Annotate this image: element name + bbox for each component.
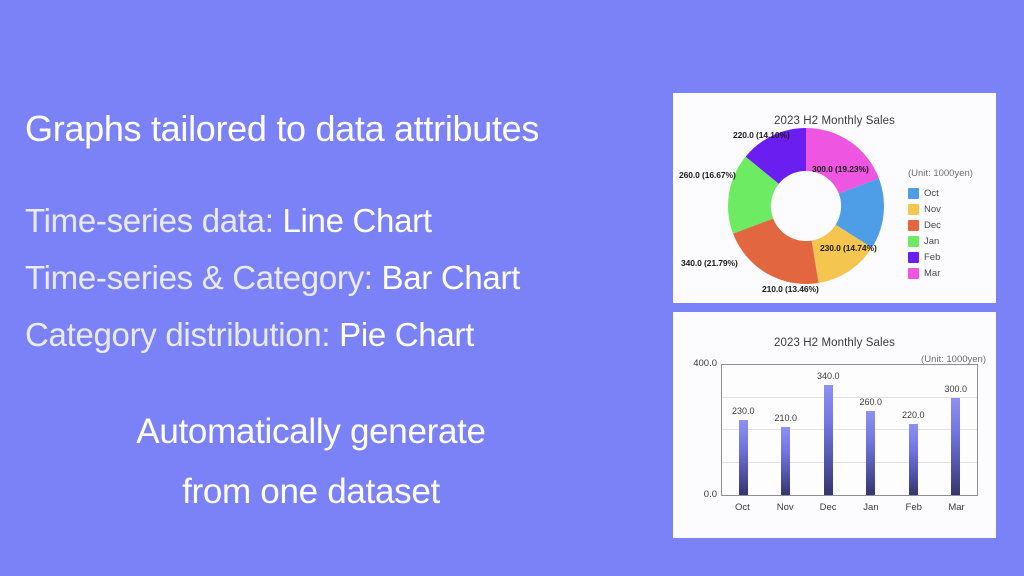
pie-slice-label-feb: 220.0 (14.10%) <box>733 130 790 140</box>
slide-text-column: Graphs tailored to data attributes Time-… <box>0 0 670 576</box>
legend-label: Dec <box>924 220 941 231</box>
rule-label: Time-series data: <box>25 202 274 239</box>
bar-rect <box>781 427 790 495</box>
bar-column-nov: 210.0 <box>765 365 808 495</box>
legend-item-feb: Feb <box>908 250 941 264</box>
legend-item-jan: Jan <box>908 234 941 248</box>
bar-value-label: 300.0 <box>944 384 967 394</box>
rule-label: Category distribution: <box>25 316 330 353</box>
bar-plot-area: 230.0210.0340.0260.0220.0300.0 <box>721 364 978 496</box>
legend-label: Oct <box>924 188 939 199</box>
pie-chart-card: 2023 H2 Monthly Sales <box>673 93 996 303</box>
pie-slice-label-oct: 230.0 (14.74%) <box>820 243 877 253</box>
pie-unit-note: (Unit: 1000yen) <box>908 168 973 179</box>
bar-columns: 230.0210.0340.0260.0220.0300.0 <box>722 365 977 495</box>
bar-value-label: 220.0 <box>902 410 925 420</box>
bar-value-label: 210.0 <box>774 413 797 423</box>
x-axis-label-feb: Feb <box>892 502 935 513</box>
legend-swatch-jan <box>908 236 919 247</box>
rule-value: Line Chart <box>282 202 431 239</box>
rule-value: Bar Chart <box>382 259 521 296</box>
legend-swatch-feb <box>908 252 919 263</box>
bar-chart-title: 2023 H2 Monthly Sales <box>673 337 996 349</box>
bar-rect <box>824 385 833 496</box>
bar-column-mar: 300.0 <box>935 365 978 495</box>
rule-line-bar-chart: Time-series & Category: Bar Chart <box>25 259 520 297</box>
footer-line-1: Automatically generate <box>0 412 670 452</box>
legend-swatch-oct <box>908 188 919 199</box>
rule-value: Pie Chart <box>339 316 474 353</box>
y-axis-tick-max: 400.0 <box>679 358 717 369</box>
bar-rect <box>951 398 960 496</box>
legend-swatch-nov <box>908 204 919 215</box>
donut-svg <box>726 126 886 286</box>
bar-value-label: 340.0 <box>817 371 840 381</box>
pie-slice-label-dec: 340.0 (21.79%) <box>681 258 738 268</box>
bar-column-feb: 220.0 <box>892 365 935 495</box>
bar-rect <box>739 420 748 495</box>
pie-slice-label-mar: 300.0 (19.23%) <box>812 164 869 174</box>
bar-column-jan: 260.0 <box>850 365 893 495</box>
legend-swatch-dec <box>908 220 919 231</box>
rule-line-line-chart: Time-series data: Line Chart <box>25 202 432 240</box>
legend-label: Feb <box>924 252 940 263</box>
x-axis-label-nov: Nov <box>764 502 807 513</box>
bar-column-oct: 230.0 <box>722 365 765 495</box>
rule-line-pie-chart: Category distribution: Pie Chart <box>25 316 474 354</box>
legend-item-mar: Mar <box>908 266 941 280</box>
legend-label: Mar <box>924 268 940 279</box>
bar-x-axis-labels: OctNovDecJanFebMar <box>721 502 978 513</box>
legend-item-dec: Dec <box>908 218 941 232</box>
legend-swatch-mar <box>908 268 919 279</box>
bar-rect <box>909 424 918 496</box>
legend-label: Jan <box>924 236 939 247</box>
bar-value-label: 260.0 <box>859 397 882 407</box>
footer-line-2: from one dataset <box>0 472 670 512</box>
legend-item-oct: Oct <box>908 186 941 200</box>
legend-item-nov: Nov <box>908 202 941 216</box>
donut-chart <box>726 126 886 286</box>
bar-chart-card: 2023 H2 Monthly Sales (Unit: 1000yen) 40… <box>673 312 996 538</box>
x-axis-label-mar: Mar <box>935 502 978 513</box>
bar-value-label: 230.0 <box>732 406 755 416</box>
bar-column-dec: 340.0 <box>807 365 850 495</box>
pie-slice-label-nov: 210.0 (13.46%) <box>762 284 819 294</box>
y-axis-tick-min: 0.0 <box>679 489 717 500</box>
legend-label: Nov <box>924 204 941 215</box>
pie-slice-label-jan: 260.0 (16.67%) <box>679 170 736 180</box>
x-axis-label-oct: Oct <box>721 502 764 513</box>
bar-rect <box>866 411 875 496</box>
x-axis-label-jan: Jan <box>849 502 892 513</box>
rule-label: Time-series & Category: <box>25 259 373 296</box>
x-axis-label-dec: Dec <box>807 502 850 513</box>
page-title: Graphs tailored to data attributes <box>25 108 539 150</box>
pie-legend: OctNovDecJanFebMar <box>908 186 941 280</box>
